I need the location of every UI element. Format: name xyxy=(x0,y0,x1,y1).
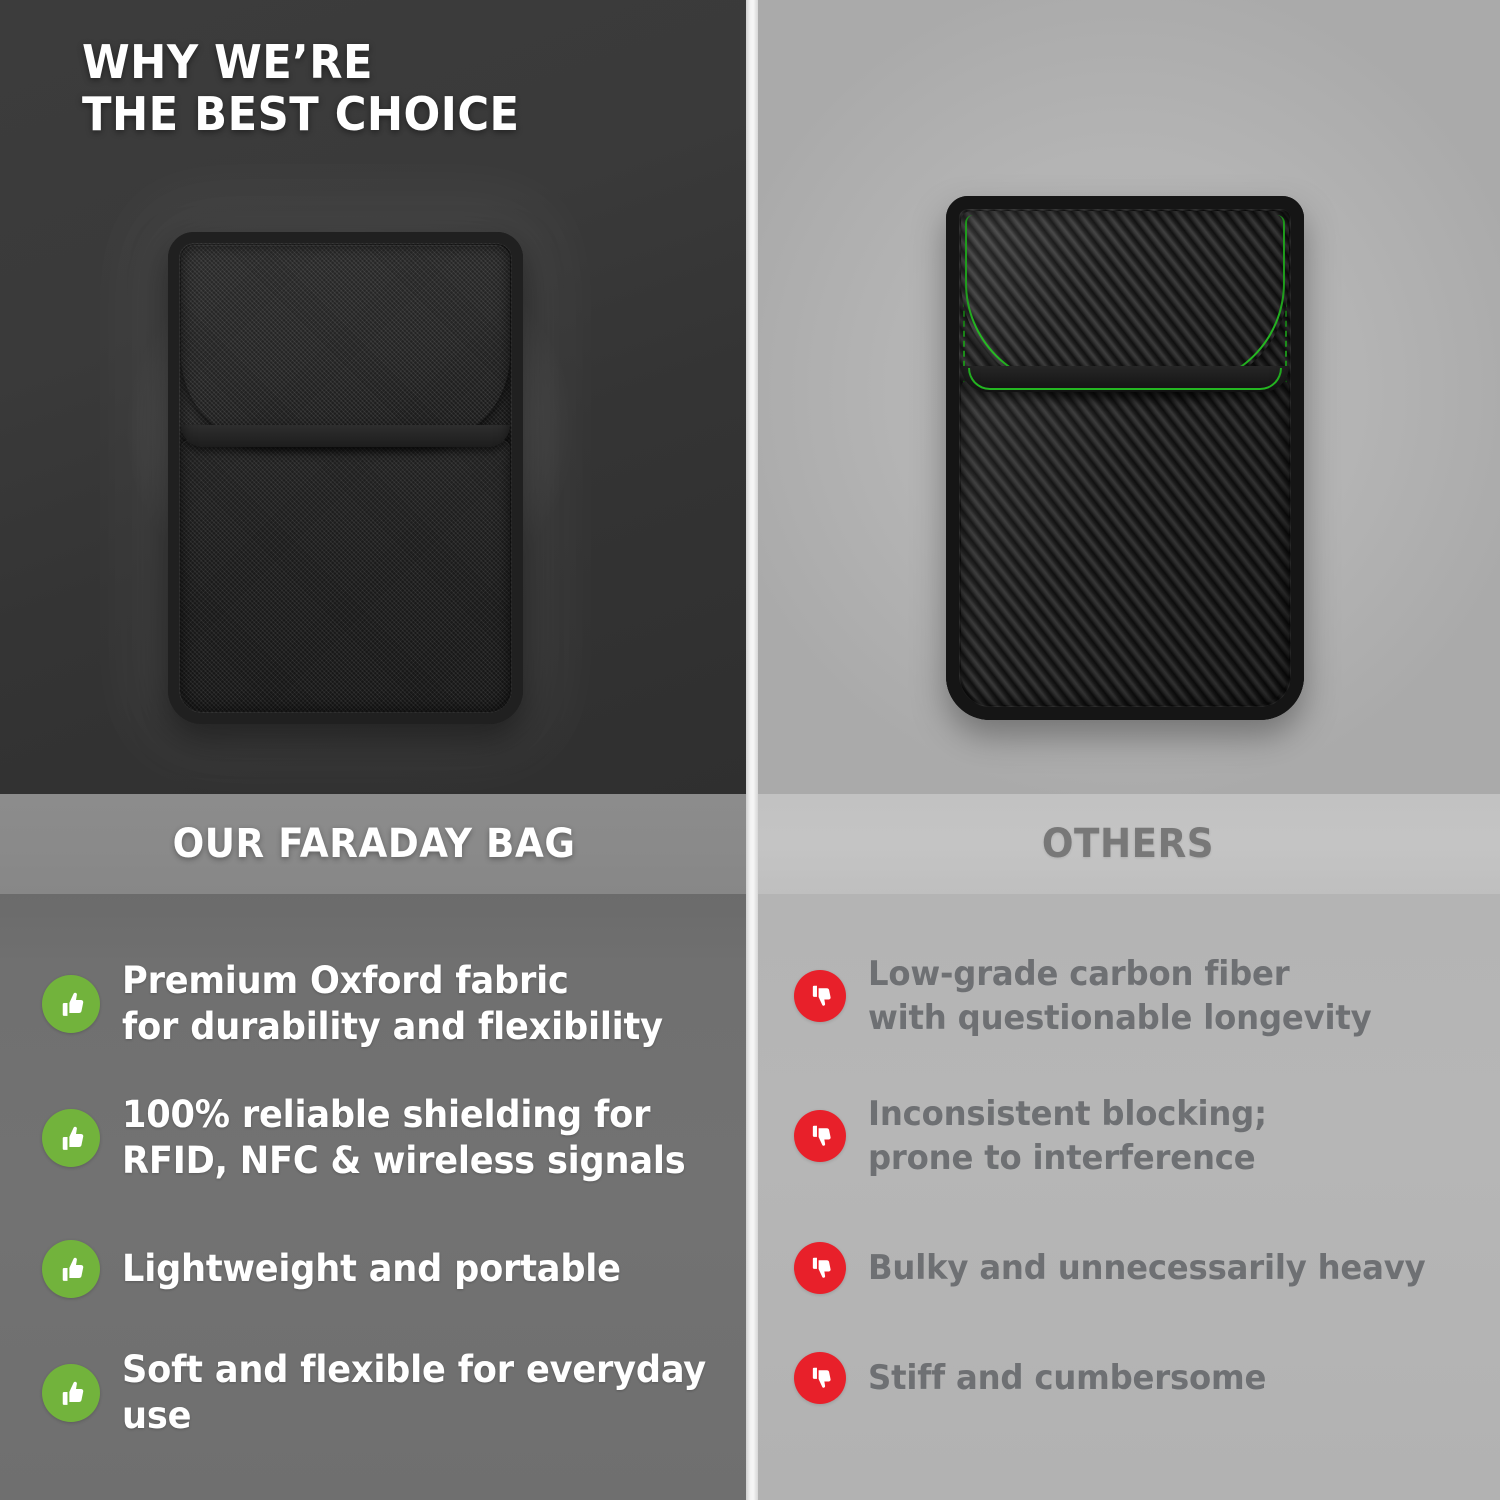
list-item-label: Lightweight and portable xyxy=(122,1246,621,1292)
list-item: Soft and flexible for everyday use xyxy=(42,1347,748,1439)
list-item-label: Inconsistent blocking; prone to interfer… xyxy=(868,1092,1267,1180)
list-item: 100% reliable shielding for RFID, NFC & … xyxy=(42,1092,715,1184)
list-item: Lightweight and portable xyxy=(42,1240,647,1298)
list-item-label: Bulky and unnecessarily heavy xyxy=(868,1246,1425,1290)
list-item-label: 100% reliable shielding for RFID, NFC & … xyxy=(122,1092,685,1184)
bag-bound-edge xyxy=(946,196,1304,720)
thumbs-up-icon xyxy=(42,1364,100,1422)
comparison-infographic: WHY WE’RE THE BEST CHOICE OUR FARADAY BA… xyxy=(0,0,1500,1500)
label-others: OTHERS xyxy=(782,794,1474,894)
column-divider xyxy=(746,0,758,1500)
list-item: Premium Oxford fabric for durability and… xyxy=(42,958,691,1050)
thumbs-down-icon xyxy=(794,1110,846,1162)
page-title: WHY WE’RE THE BEST CHOICE xyxy=(82,36,520,140)
headline-line-1: WHY WE’RE xyxy=(82,36,520,88)
product-image-others xyxy=(946,196,1304,720)
list-item-label: Low-grade carbon fiber with questionable… xyxy=(868,952,1371,1040)
thumbs-down-icon xyxy=(794,1352,846,1404)
column-others: OTHERS Low-grade carbon fiber with quest… xyxy=(756,0,1500,1500)
list-item: Inconsistent blocking; prone to interfer… xyxy=(794,1092,1288,1180)
thumbs-up-icon xyxy=(42,1109,100,1167)
list-item: Bulky and unnecessarily heavy xyxy=(794,1242,1455,1294)
list-item-label: Premium Oxford fabric for durability and… xyxy=(122,958,663,1050)
list-item: Stiff and cumbersome xyxy=(794,1352,1287,1404)
list-item: Low-grade carbon fiber with questionable… xyxy=(794,952,1398,1040)
thumbs-up-icon xyxy=(42,975,100,1033)
product-image-our-faraday-bag xyxy=(168,232,523,724)
list-item-label: Soft and flexible for everyday use xyxy=(122,1347,717,1439)
thumbs-down-icon xyxy=(794,1242,846,1294)
column-our-faraday-bag: WHY WE’RE THE BEST CHOICE OUR FARADAY BA… xyxy=(0,0,748,1500)
thumbs-up-icon xyxy=(42,1240,100,1298)
headline-line-2: THE BEST CHOICE xyxy=(82,88,520,140)
list-item-label: Stiff and cumbersome xyxy=(868,1356,1266,1400)
thumbs-down-icon xyxy=(794,970,846,1022)
bag-bound-edge xyxy=(168,232,523,724)
label-our-faraday-bag: OUR FARADAY BAG xyxy=(26,794,722,894)
